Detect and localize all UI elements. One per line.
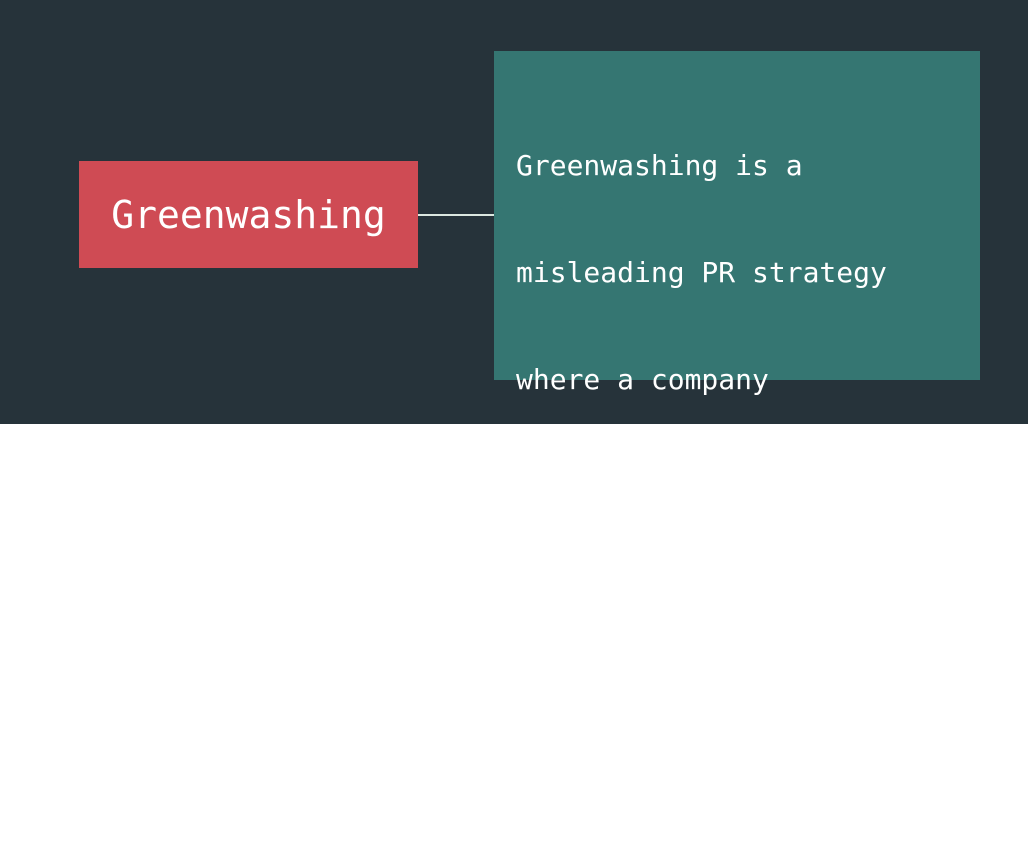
- mindmap-definition-text: Greenwashing is a misleading PR strategy…: [516, 76, 970, 848]
- definition-line: to environmental: [516, 577, 970, 613]
- mindmap-definition-card[interactable]: Greenwashing is a misleading PR strategy…: [494, 51, 980, 380]
- definition-line: exaggerates its commitment: [516, 470, 970, 506]
- definition-line: sustainability without: [516, 685, 970, 721]
- mindmap-connector-line: [418, 214, 495, 216]
- mindmap-canvas: Greenwashing Greenwashing is a misleadin…: [0, 0, 1028, 424]
- mindmap-root-node[interactable]: Greenwashing: [79, 161, 418, 268]
- definition-line: where a company: [516, 362, 970, 398]
- definition-line: Greenwashing is a: [516, 148, 970, 184]
- definition-line: misleading PR strategy: [516, 255, 970, 291]
- mindmap-root-node-label: Greenwashing: [111, 196, 386, 234]
- definition-line: taking significant actions: [516, 792, 970, 828]
